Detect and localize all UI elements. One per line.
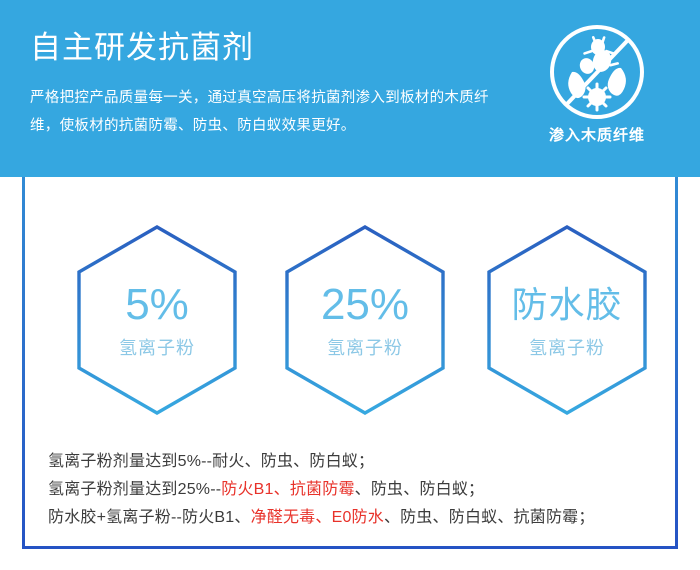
- note-line: 防水胶+氢离子粉--防火B1、净醛无毒、E0防水、防虫、防白蚁、抗菌防霉；: [48, 504, 668, 532]
- header-text-block: 自主研发抗菌剂 严格把控产品质量每一关，通过真空高压将抗菌剂渗入到板材的木质纤维…: [30, 28, 500, 140]
- hexagon-item: 防水胶 氢离子粉: [482, 222, 652, 418]
- hexagon-item: 5% 氢离子粉: [72, 222, 242, 418]
- note-text: 氢离子粉剂量达到5%--耐火、防虫、防白蚁；: [48, 453, 374, 470]
- hexagon-content: 防水胶 氢离子粉: [482, 222, 652, 418]
- note-text: 防水胶+氢离子粉--防火B1、: [48, 509, 251, 526]
- note-text: 、防虫、防白蚁；: [355, 481, 485, 498]
- page-title: 自主研发抗菌剂: [30, 28, 500, 68]
- note-line: 氢离子粉剂量达到5%--耐火、防虫、防白蚁；: [48, 448, 668, 476]
- header-badge: 渗入木质纤维: [532, 20, 662, 146]
- hexagon-row: 5% 氢离子粉 25% 氢离子粉: [0, 222, 700, 418]
- note-highlight: 净醛无毒、E0防水: [251, 509, 384, 526]
- hexagon-content: 25% 氢离子粉: [280, 222, 450, 418]
- header-band: 自主研发抗菌剂 严格把控产品质量每一关，通过真空高压将抗菌剂渗入到板材的木质纤维…: [0, 0, 700, 177]
- no-bugs-icon: [545, 20, 649, 124]
- note-text: 、防虫、防白蚁、抗菌防霉；: [384, 509, 595, 526]
- hexagon-item: 25% 氢离子粉: [280, 222, 450, 418]
- notes-list: 氢离子粉剂量达到5%--耐火、防虫、防白蚁； 氢离子粉剂量达到25%--防火B1…: [48, 448, 668, 532]
- note-line: 氢离子粉剂量达到25%--防火B1、抗菌防霉、防虫、防白蚁；: [48, 476, 668, 504]
- hexagon-content: 5% 氢离子粉: [72, 222, 242, 418]
- hexagon-label: 氢离子粉: [529, 336, 605, 360]
- note-highlight: 防火B1、抗菌防霉: [221, 481, 354, 498]
- badge-label: 渗入木质纤维: [532, 126, 662, 146]
- hexagon-value: 25%: [321, 280, 409, 330]
- hexagon-value: 5%: [125, 280, 189, 330]
- hexagon-value: 防水胶: [511, 280, 622, 330]
- hexagon-label: 氢离子粉: [327, 336, 403, 360]
- promo-banner: 自主研发抗菌剂 严格把控产品质量每一关，通过真空高压将抗菌剂渗入到板材的木质纤维…: [0, 0, 700, 570]
- header-description: 严格把控产品质量每一关，通过真空高压将抗菌剂渗入到板材的木质纤维，使板材的抗菌防…: [30, 84, 500, 140]
- hexagon-label: 氢离子粉: [119, 336, 195, 360]
- note-text: 氢离子粉剂量达到25%--: [48, 481, 221, 498]
